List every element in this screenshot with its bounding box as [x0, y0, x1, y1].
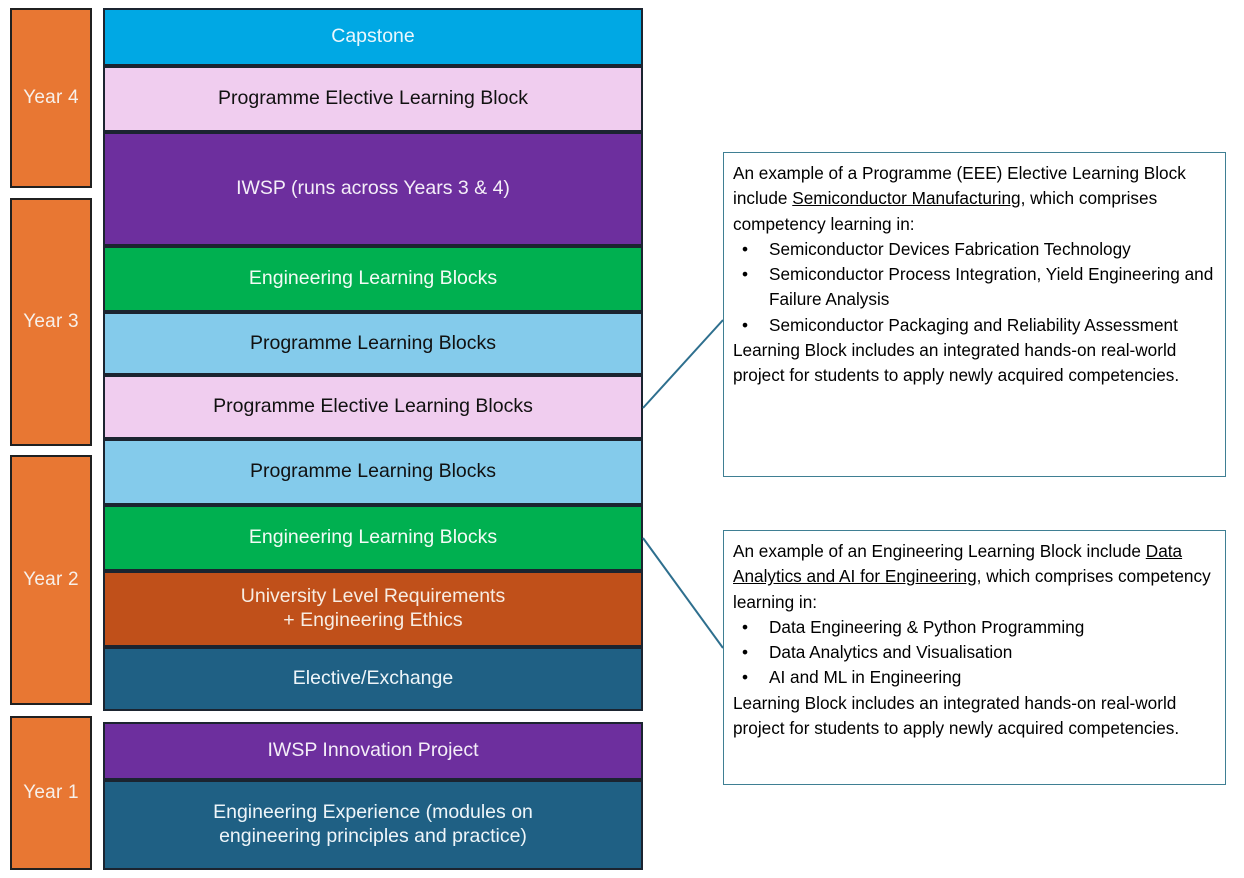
callout-intro-emphasis: Semiconductor Manufacturing: [792, 188, 1020, 208]
year-box-year-4: Year 4: [10, 8, 92, 188]
block-capstone[interactable]: Capstone: [103, 8, 643, 66]
block-label: Programme Learning Blocks: [250, 332, 496, 356]
callout-bullet-item: •Semiconductor Process Integration, Yiel…: [733, 262, 1215, 313]
callout-bullet-list: •Data Engineering & Python Programming •…: [733, 615, 1215, 691]
year-box-year-3: Year 3: [10, 198, 92, 446]
callout-bullet-item: •Data Engineering & Python Programming: [733, 615, 1215, 640]
block-label: Programme Learning Blocks: [250, 460, 496, 484]
block-engineering-learning-blocks-y2[interactable]: Engineering Learning Blocks: [103, 505, 643, 571]
callout-intro-part-1: An example of an Engineering Learning Bl…: [733, 541, 1146, 561]
callout-outro: Learning Block includes an integrated ha…: [733, 338, 1215, 389]
block-iwsp[interactable]: IWSP (runs across Years 3 & 4): [103, 132, 643, 246]
block-engineering-experience[interactable]: Engineering Experience (modules on engin…: [103, 780, 643, 870]
connector-line-programme-elective: [643, 320, 723, 408]
year-box-year-2: Year 2: [10, 455, 92, 705]
block-label-group: University Level Requirements + Engineer…: [241, 585, 505, 633]
year-label: Year 3: [23, 311, 78, 333]
block-label: IWSP (runs across Years 3 & 4): [236, 177, 510, 201]
callout-outro: Learning Block includes an integrated ha…: [733, 691, 1215, 742]
bullet-icon: •: [742, 665, 748, 690]
block-iwsp-innovation-project[interactable]: IWSP Innovation Project: [103, 722, 643, 780]
callout-bullet-text: Data Engineering & Python Programming: [769, 617, 1084, 637]
callout-intro: An example of an Engineering Learning Bl…: [733, 539, 1215, 615]
programme-structure-diagram: Year 4 Year 3 Year 2 Year 1 Capstone Pro…: [0, 0, 1244, 878]
callout-programme-elective: An example of a Programme (EEE) Elective…: [723, 152, 1226, 477]
callout-bullet-list: •Semiconductor Devices Fabrication Techn…: [733, 237, 1215, 338]
block-programme-learning-blocks-y2[interactable]: Programme Learning Blocks: [103, 439, 643, 505]
callout-bullet-text: Semiconductor Devices Fabrication Techno…: [769, 239, 1131, 259]
block-university-level-requirements[interactable]: University Level Requirements + Engineer…: [103, 571, 643, 647]
block-label: Engineering Learning Blocks: [249, 526, 497, 550]
connector-line-engineering-block: [643, 538, 723, 648]
block-label-line-1: Engineering Experience (modules on: [213, 801, 533, 825]
block-label: IWSP Innovation Project: [268, 739, 479, 763]
block-label: Engineering Learning Blocks: [249, 267, 497, 291]
block-programme-elective-learning-block[interactable]: Programme Elective Learning Block: [103, 66, 643, 132]
block-label-line-2: engineering principles and practice): [213, 825, 533, 849]
callout-bullet-text: Data Analytics and Visualisation: [769, 642, 1012, 662]
callout-bullet-text: AI and ML in Engineering: [769, 667, 961, 687]
callout-engineering-learning: An example of an Engineering Learning Bl…: [723, 530, 1226, 785]
callout-bullet-text: Semiconductor Process Integration, Yield…: [769, 264, 1213, 309]
block-label-line-2: + Engineering Ethics: [241, 609, 505, 633]
callout-bullet-item: •AI and ML in Engineering: [733, 665, 1215, 690]
callout-bullet-item: •Semiconductor Devices Fabrication Techn…: [733, 237, 1215, 262]
bullet-icon: •: [742, 262, 748, 287]
year-label: Year 2: [23, 569, 78, 591]
bullet-icon: •: [742, 640, 748, 665]
year-label: Year 4: [23, 87, 78, 109]
bullet-icon: •: [742, 313, 748, 338]
callout-bullet-text: Semiconductor Packaging and Reliability …: [769, 315, 1178, 335]
callout-bullet-item: •Data Analytics and Visualisation: [733, 640, 1215, 665]
block-label: Elective/Exchange: [293, 667, 453, 691]
block-label: Programme Elective Learning Block: [218, 87, 528, 111]
block-programme-elective-learning-blocks-y3[interactable]: Programme Elective Learning Blocks: [103, 375, 643, 439]
block-label-group: Engineering Experience (modules on engin…: [213, 801, 533, 849]
bullet-icon: •: [742, 615, 748, 640]
bullet-icon: •: [742, 237, 748, 262]
callout-intro: An example of a Programme (EEE) Elective…: [733, 161, 1215, 237]
block-label-line-1: University Level Requirements: [241, 585, 505, 609]
block-programme-learning-blocks-y3[interactable]: Programme Learning Blocks: [103, 312, 643, 375]
block-label: Programme Elective Learning Blocks: [213, 395, 533, 419]
block-label: Capstone: [331, 25, 414, 49]
callout-bullet-item: •Semiconductor Packaging and Reliability…: [733, 313, 1215, 338]
year-box-year-1: Year 1: [10, 716, 92, 870]
block-engineering-learning-blocks-y3[interactable]: Engineering Learning Blocks: [103, 246, 643, 312]
year-label: Year 1: [23, 782, 78, 804]
block-elective-exchange[interactable]: Elective/Exchange: [103, 647, 643, 711]
